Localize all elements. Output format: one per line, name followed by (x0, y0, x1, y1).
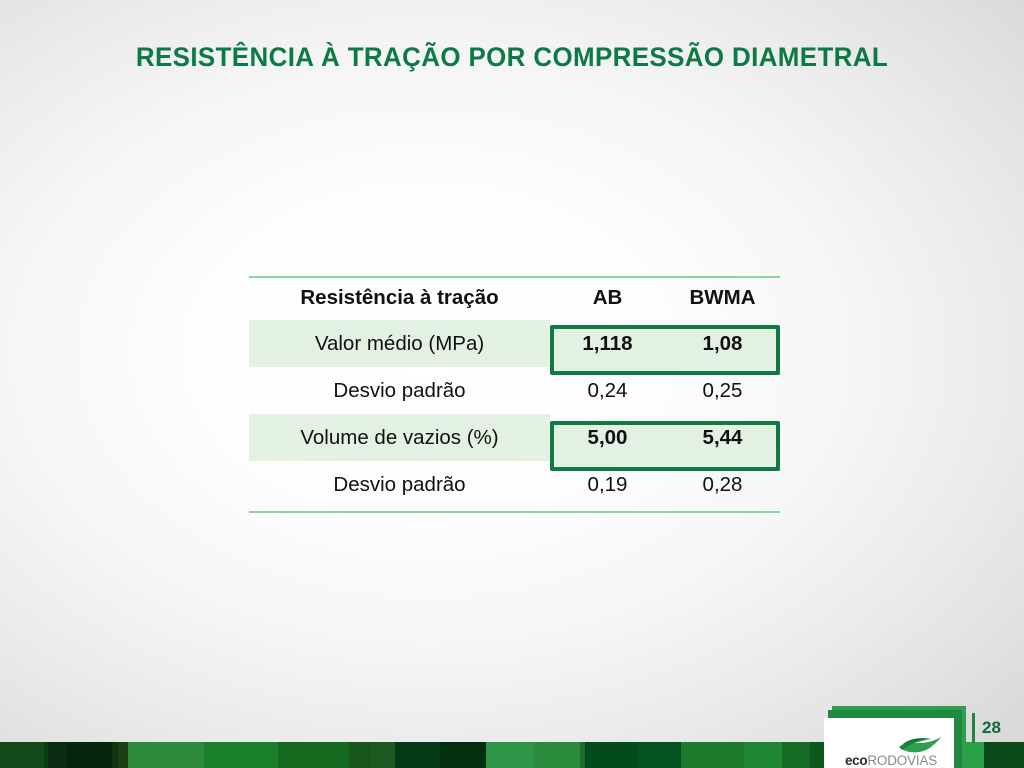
stripe-segment-18 (681, 742, 744, 768)
page-title: RESISTÊNCIA À TRAÇÃO POR COMPRESSÃO DIAM… (20, 42, 1003, 73)
column-header-ab: AB (550, 276, 665, 320)
stripe-segment-11 (395, 742, 441, 768)
stripe-segment-5 (118, 742, 128, 768)
stripe-segment-13 (486, 742, 534, 768)
row-value-ab: 5,00 (550, 414, 665, 461)
page-number: 28 (982, 718, 1001, 738)
stripe-segment-9 (349, 742, 370, 768)
stripe-segment-8 (278, 742, 349, 768)
page-number-divider (972, 713, 975, 743)
stripe-segment-17 (637, 742, 681, 768)
stripe-segment-16 (585, 742, 636, 768)
stripe-segment-27 (984, 742, 1024, 768)
leaf-swoosh-icon (898, 735, 942, 755)
row-label: Desvio padrão (249, 367, 550, 414)
row-value-ab: 1,118 (550, 320, 665, 367)
row-value-bwma: 5,44 (665, 414, 780, 461)
row-label: Desvio padrão (249, 461, 550, 508)
logo-text-eco: eco (845, 753, 867, 768)
stripe-segment-19 (744, 742, 782, 768)
stripe-segment-6 (128, 742, 204, 768)
ecorodovias-logo: ecoRODOVIAS GRUPO (824, 706, 966, 768)
table-row: Desvio padrão 0,19 0,28 (249, 461, 780, 508)
column-header-bwma: BWMA (665, 276, 780, 320)
results-table-container: Resistência à tração AB BWMA Valor médio… (249, 276, 780, 508)
stripe-segment-12 (440, 742, 486, 768)
table-row: Valor médio (MPa) 1,118 1,08 (249, 320, 780, 367)
stripe-segment-0 (0, 742, 44, 768)
row-value-ab: 0,24 (550, 367, 665, 414)
results-table: Resistência à tração AB BWMA Valor médio… (249, 276, 780, 508)
stripe-segment-14 (534, 742, 580, 768)
row-label: Valor médio (MPa) (249, 320, 550, 367)
row-value-bwma: 0,28 (665, 461, 780, 508)
table-bottom-rule (249, 511, 780, 513)
row-label: Volume de vazios (%) (249, 414, 550, 461)
slide-canvas: RESISTÊNCIA À TRAÇÃO POR COMPRESSÃO DIAM… (0, 0, 1024, 768)
row-value-bwma: 1,08 (665, 320, 780, 367)
logo-plate-face: ecoRODOVIAS GRUPO (824, 718, 954, 768)
stripe-segment-20 (782, 742, 811, 768)
table-row: Volume de vazios (%) 5,00 5,44 (249, 414, 780, 461)
row-value-bwma: 0,25 (665, 367, 780, 414)
table-header-row: Resistência à tração AB BWMA (249, 276, 780, 320)
logo-text-rodovias: RODOVIAS (867, 753, 937, 768)
stripe-segment-2 (48, 742, 67, 768)
stripe-segment-3 (67, 742, 113, 768)
stripe-segment-10 (370, 742, 395, 768)
logo-wordmark: ecoRODOVIAS (832, 754, 950, 768)
stripe-segment-7 (204, 742, 278, 768)
table-row: Desvio padrão 0,24 0,25 (249, 367, 780, 414)
row-value-ab: 0,19 (550, 461, 665, 508)
column-header-label: Resistência à tração (249, 276, 550, 320)
